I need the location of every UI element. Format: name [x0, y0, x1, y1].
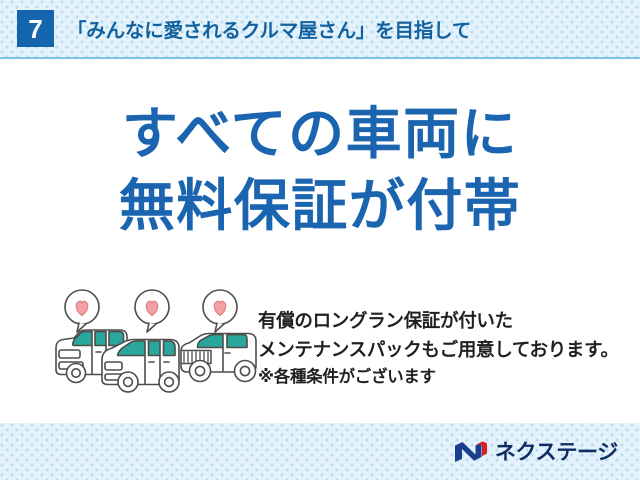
cars-illustration-svg — [48, 288, 263, 400]
nextage-n-logo-icon — [454, 440, 488, 464]
heart-bubble-3 — [203, 290, 237, 332]
brand-logo: ネクステージ — [454, 437, 618, 467]
car-suv — [181, 334, 256, 382]
headline: すべての車両に 無料保証が付帯 — [0, 98, 640, 242]
brand-name: ネクステージ — [495, 442, 618, 463]
cars-illustration — [48, 288, 263, 400]
promo-line-1: 有償のロングラン保証が付いた — [258, 307, 633, 336]
heart-bubble-2 — [135, 290, 169, 332]
header-title: 「みんなに愛されるクルマ屋さん」を目指して — [67, 14, 471, 43]
content-row: 有償のロングラン保証が付いた メンテナンスパックもご用意しております。 ※各種条… — [0, 288, 640, 413]
header: 7 「みんなに愛されるクルマ屋さん」を目指して — [0, 0, 640, 57]
promo-text: 有償のロングラン保証が付いた メンテナンスパックもご用意しております。 ※各種条… — [258, 307, 633, 391]
heart-bubble-1 — [65, 290, 99, 332]
headline-line-1: すべての車両に — [0, 98, 640, 170]
promo-note: ※各種条件がございます — [258, 364, 633, 391]
car-minivan — [102, 340, 179, 393]
headline-line-2: 無料保証が付帯 — [0, 170, 640, 242]
step-number-badge: 7 — [17, 10, 54, 47]
promo-line-2: メンテナンスパックもご用意しております。 — [258, 336, 633, 365]
promo-banner: 7 「みんなに愛されるクルマ屋さん」を目指して すべての車両に 無料保証が付帯 — [0, 0, 640, 480]
